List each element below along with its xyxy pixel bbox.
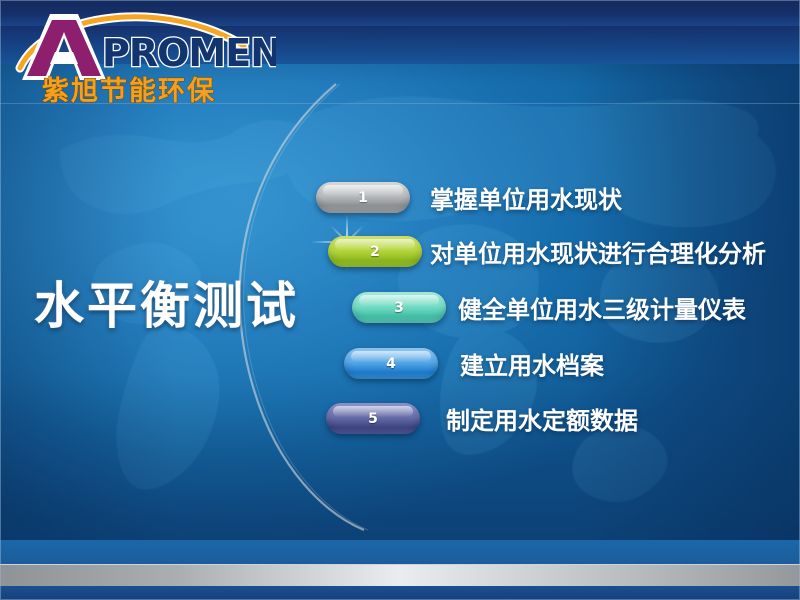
- step-badge-1[interactable]: 1: [316, 182, 410, 213]
- step-label: 建立用水档案: [460, 346, 604, 381]
- step-badge-2[interactable]: 2: [328, 236, 422, 267]
- step-label: 制定用水定额数据: [446, 401, 638, 436]
- footer-band-bottom: [0, 586, 800, 600]
- logo-chinese-text: 紫旭节能环保: [42, 75, 216, 107]
- presentation-slide: PROMEN 紫旭节能环保 水平衡测试 1 掌握单位用水现状 2 对单位用水现状…: [0, 0, 800, 600]
- list-item[interactable]: 1 掌握单位用水现状: [316, 180, 622, 215]
- step-number: 5: [368, 411, 378, 427]
- step-number: 1: [358, 190, 368, 206]
- step-badge-4[interactable]: 4: [344, 348, 438, 379]
- list-item[interactable]: 3 健全单位用水三级计量仪表: [352, 290, 746, 325]
- step-number: 3: [394, 300, 404, 316]
- list-item[interactable]: 5 制定用水定额数据: [326, 401, 638, 436]
- slide-title: 水平衡测试: [34, 266, 299, 338]
- list-item[interactable]: 2 对单位用水现状进行合理化分析: [328, 234, 766, 269]
- step-number: 2: [370, 244, 380, 260]
- step-label: 掌握单位用水现状: [430, 180, 622, 215]
- logo-wordmark-text: PROMEN: [102, 31, 276, 75]
- step-label: 健全单位用水三级计量仪表: [458, 290, 746, 325]
- step-badge-3[interactable]: 3: [352, 292, 446, 323]
- step-badge-5[interactable]: 5: [326, 403, 420, 434]
- footer-silver-bar: [0, 564, 800, 587]
- step-number: 4: [386, 356, 396, 372]
- company-logo: PROMEN 紫旭节能环保: [6, 2, 276, 110]
- footer-band-top: [0, 540, 800, 564]
- list-item[interactable]: 4 建立用水档案: [344, 346, 604, 381]
- step-label: 对单位用水现状进行合理化分析: [430, 234, 766, 269]
